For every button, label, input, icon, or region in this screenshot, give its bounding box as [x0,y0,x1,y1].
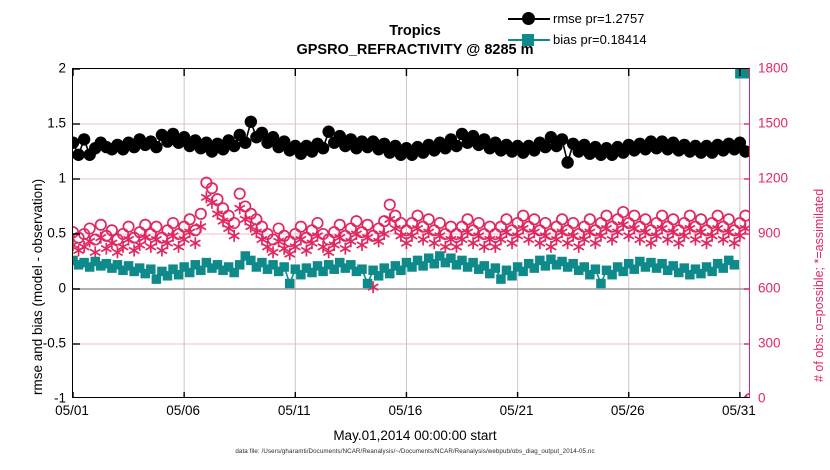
obs-possible-marker [501,214,511,224]
figure-root: Tropics GPSRO_REFRACTIVITY @ 8285 m rmse… [0,0,830,470]
chart-legend: rmse pr=1.2757 bias pr=0.18414 [508,8,678,50]
obs-possible-marker [446,221,456,231]
obs-possible-marker [296,221,306,231]
obs-possible-marker [485,221,495,231]
obs-possible-marker [385,199,395,209]
y-tick-label-right: 600 [758,281,818,296]
obs-possible-marker [473,218,483,228]
legend-label-bias: bias pr=0.18414 [553,32,647,47]
x-tick-label: 05/26 [593,403,663,418]
bias-marker [491,263,501,273]
obs-possible-marker [640,214,650,224]
obs-possible-marker [312,218,322,228]
chart-title-block: Tropics GPSRO_REFRACTIVITY @ 8285 m [0,22,830,60]
chart-title-variable: GPSRO_REFRACTIVITY @ 8285 m [0,41,830,60]
data-file-note: data file: /Users/gharamti/Documents/NCA… [0,448,830,455]
bias-marker [285,279,295,289]
rmse-marker [450,140,462,152]
rmse-marker [228,140,240,152]
legend-entry-rmse: rmse pr=1.2757 [508,8,678,29]
legend-marker-rmse-icon [508,10,550,28]
plot-canvas [73,69,750,398]
obs-possible-marker [696,214,706,224]
y-tick-label-right: 1800 [758,61,818,76]
y-tick-label-left: -0.5 [6,336,66,351]
obs-possible-marker [529,214,539,224]
obs-possible-marker [196,209,206,219]
obs-possible-marker [351,216,361,226]
obs-possible-marker [557,214,567,224]
obs-zero-sentinel [745,393,750,398]
obs-possible-marker [435,218,445,228]
bias-marker [357,264,367,274]
bias-marker [730,260,740,270]
obs-possible-marker [568,218,578,228]
bias-marker [591,264,601,274]
y-tick-label-right: 300 [758,336,818,351]
rmse-marker [150,141,162,153]
obs-possible-marker [235,188,245,198]
bias-marker [596,279,606,289]
rmse-marker [78,133,90,145]
obs-possible-marker [185,214,195,224]
legend-entry-bias: bias pr=0.18414 [508,29,678,50]
obs-possible-marker [462,214,472,224]
legend-marker-bias-icon [508,31,550,49]
y-tick-label-right: 1500 [758,116,818,131]
y-tick-label-left: 1.5 [6,116,66,131]
x-tick-label: 05/01 [37,403,107,418]
y-tick-label-left: 0 [6,281,66,296]
obs-assimilated-marker [745,396,750,398]
obs-possible-marker [273,223,283,233]
x-tick-label: 05/16 [370,403,440,418]
rmse-marker [556,133,568,145]
legend-label-rmse: rmse pr=1.2757 [553,11,644,26]
obs-possible-marker [601,210,611,220]
plot-area [72,68,750,398]
y-tick-label-right: 1200 [758,171,818,186]
rmse-marker [239,137,251,149]
rmse-marker [317,142,329,154]
rmse-marker [322,126,334,138]
obs-possible-marker [423,214,433,224]
obs-possible-marker [685,210,695,220]
obs-possible-marker [618,207,628,217]
obs-possible-marker [724,214,734,224]
y-tick-label-right: 900 [758,226,818,241]
obs-possible-marker [390,210,400,220]
obs-possible-marker [168,218,178,228]
x-tick-label: 05/21 [482,403,552,418]
rmse-marker [73,149,85,161]
obs-possible-marker [123,221,133,231]
obs-possible-marker [740,210,750,220]
x-tick-label: 05/11 [259,403,329,418]
bias-marker [507,271,517,281]
bias-marker [235,260,245,270]
obs-possible-marker [412,210,422,220]
bias-marker [279,262,289,272]
x-tick-label: 05/06 [148,403,218,418]
y-tick-label-left: 2 [6,61,66,76]
bias-marker [146,264,156,274]
obs-possible-marker [518,210,528,220]
obs-possible-marker [96,220,106,230]
obs-possible-marker [362,220,372,230]
obs-possible-marker [657,210,667,220]
obs-possible-marker [712,210,722,220]
obs-possible-marker [540,218,550,228]
obs-possible-marker [585,214,595,224]
rmse-marker [561,156,573,168]
rmse-marker [245,116,257,128]
chart-title-region: Tropics [0,22,830,41]
obs-possible-marker [151,221,161,231]
obs-possible-marker [629,210,639,220]
obs-possible-marker [668,214,678,224]
bias-marker [363,279,373,289]
y-tick-label-left: 1 [6,171,66,186]
y-tick-label-left: 0.5 [6,226,66,241]
x-tick-label: 05/31 [704,403,774,418]
obs-possible-marker [335,220,345,230]
bias-marker [741,69,750,79]
x-axis-label: May.01,2014 00:00:00 start [0,428,830,443]
bias-marker [496,274,506,284]
